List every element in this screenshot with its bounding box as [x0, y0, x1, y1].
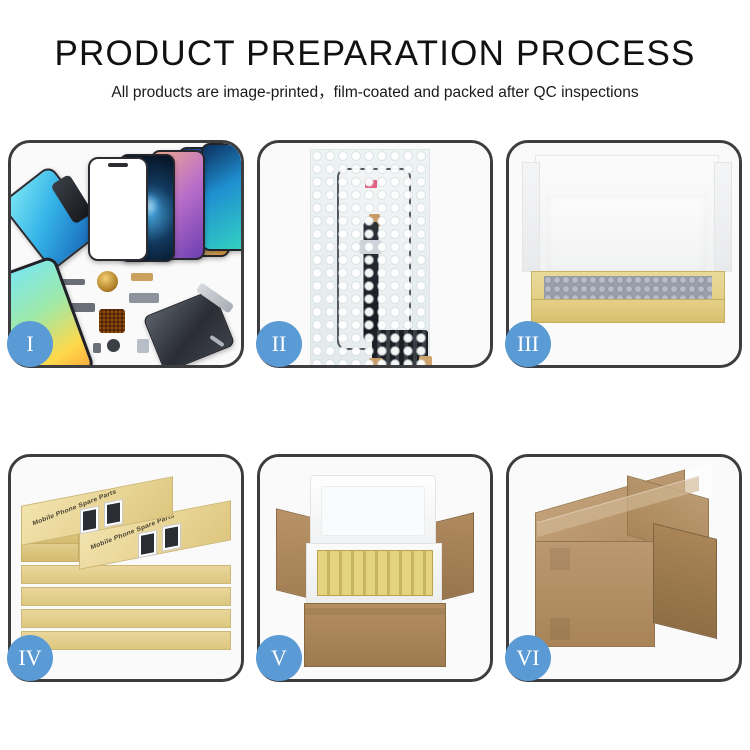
- step-badge-4: IV: [7, 635, 53, 681]
- box-layer-icon: [21, 565, 231, 584]
- screen-thumbnail-icon: [104, 499, 123, 528]
- part-button-icon: [93, 343, 101, 353]
- carton-tab-lower-icon: [550, 618, 570, 640]
- box-layer-icon: [21, 587, 231, 606]
- screen-thumbnail-icon: [80, 506, 99, 535]
- bubble-wrap-bag-icon: [310, 149, 430, 365]
- part-camera-icon: [107, 339, 120, 352]
- process-step-panel-6[interactable]: VI: [506, 454, 742, 682]
- process-step-panel-2[interactable]: II: [257, 140, 493, 368]
- page-title: PRODUCT PREPARATION PROCESS: [0, 34, 750, 74]
- process-step-grid: I II: [8, 140, 742, 682]
- carton-side-face-icon: [653, 523, 717, 639]
- page-header: PRODUCT PREPARATION PROCESS All products…: [0, 0, 750, 103]
- yellow-boxes-inside-icon: [317, 550, 433, 596]
- phone-teal-icon: [201, 143, 241, 251]
- step-badge-6: VI: [505, 635, 551, 681]
- phone-white-icon: [88, 157, 148, 261]
- part-connector-icon: [137, 339, 149, 353]
- box-layer-side-icon: [21, 543, 79, 562]
- screen-thumbnail-icon: [162, 523, 181, 552]
- styrofoam-lid-icon: [310, 475, 436, 547]
- part-flex-cable-icon: [131, 273, 153, 281]
- page-subtitle: All products are image-printed，film-coat…: [0, 83, 750, 103]
- vibration-motor-icon: [97, 271, 118, 292]
- process-step-panel-3[interactable]: III: [506, 140, 742, 368]
- part-ribbon-icon: [129, 293, 159, 303]
- step-badge-3: III: [505, 321, 551, 367]
- carton-body-icon: [304, 603, 446, 667]
- bubble-texture-icon: [311, 150, 429, 365]
- step-badge-5: V: [256, 635, 302, 681]
- carton-tab-upper-icon: [550, 548, 570, 570]
- box-layer-icon: [21, 609, 231, 628]
- carton-crease-icon: [305, 608, 445, 615]
- box-layer-icon: [21, 631, 231, 650]
- process-step-panel-4[interactable]: Mobile Phone Spare Parts Mobile Phone Sp…: [8, 454, 244, 682]
- kraft-box-front-icon: [531, 299, 725, 323]
- carton-front-face-icon: [535, 541, 655, 647]
- page-root: PRODUCT PREPARATION PROCESS All products…: [0, 0, 750, 750]
- step-badge-2: II: [256, 321, 302, 367]
- logic-board-chip-icon: [99, 309, 125, 333]
- foam-sheet-icon: [547, 195, 707, 273]
- process-step-panel-5[interactable]: V: [257, 454, 493, 682]
- styrofoam-liner-icon: [306, 543, 442, 607]
- screen-thumbnail-icon: [138, 530, 157, 559]
- retail-box-stack-icon: Mobile Phone Spare Parts Mobile Phone Sp…: [17, 481, 235, 671]
- step-badge-1: I: [7, 321, 53, 367]
- process-step-panel-1[interactable]: I: [8, 140, 244, 368]
